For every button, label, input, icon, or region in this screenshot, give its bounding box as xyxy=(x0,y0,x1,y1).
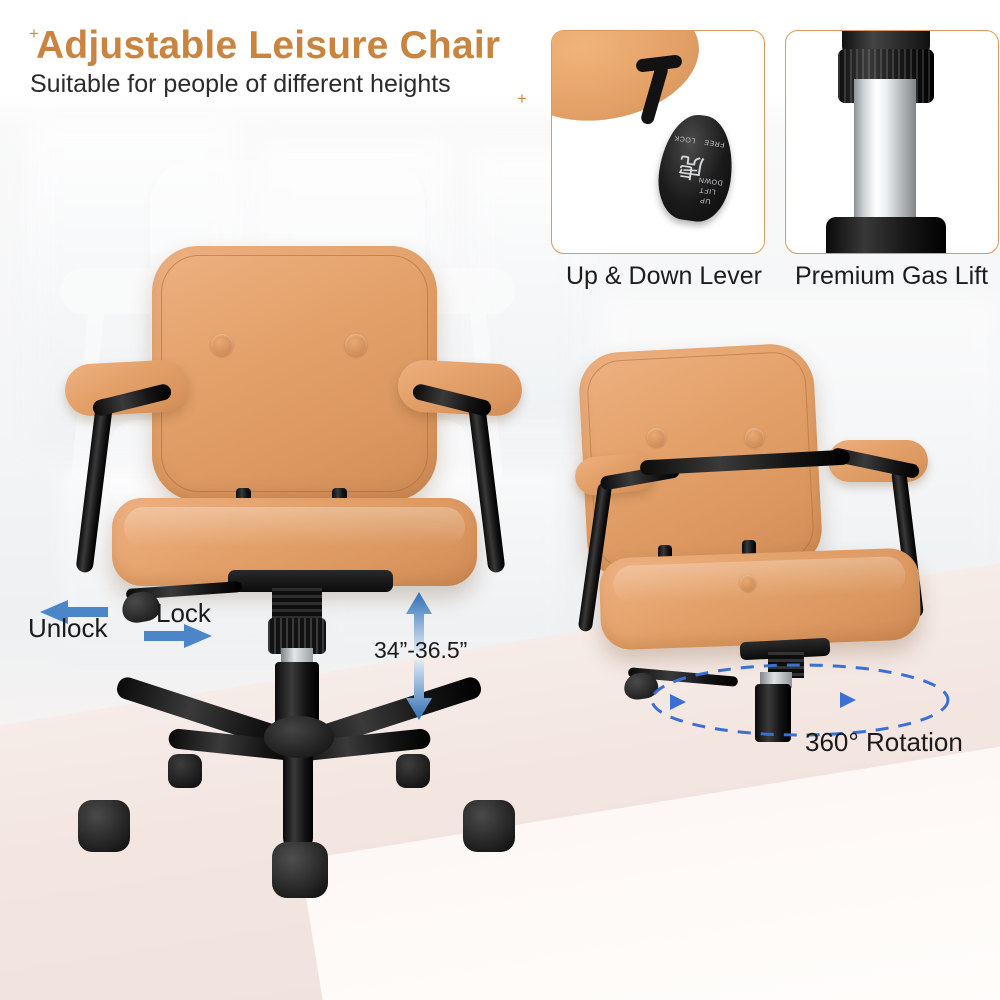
tuft-button-right xyxy=(345,334,367,356)
seat-highlight xyxy=(124,507,465,547)
right-seat-cushion xyxy=(598,547,921,650)
gas-lift-spring xyxy=(272,588,322,622)
lever-label-free: FREE xyxy=(703,138,725,148)
right-tuft-button-right xyxy=(745,428,764,447)
crop-mark-bottom-right: + xyxy=(517,90,527,107)
right-seat-tuft xyxy=(740,575,756,591)
lock-label: Lock xyxy=(156,598,211,629)
caster-2 xyxy=(463,800,515,852)
tuft-button-left xyxy=(211,334,233,356)
callout-panel-gas-lift xyxy=(785,30,999,254)
lever-paddle: 虎 LOCK FREE DOWN LIFT UP xyxy=(653,111,739,226)
arrow-head-down xyxy=(406,660,432,720)
page-title: Adjustable Leisure Chair xyxy=(36,24,500,68)
caster-5 xyxy=(396,754,430,788)
lever-label-lock: LOCK xyxy=(674,134,696,144)
rotation-path xyxy=(652,665,948,735)
gas-lift-base xyxy=(826,217,946,254)
product-infographic: + Adjustable Leisure Chair Suitable for … xyxy=(0,0,1000,1000)
backrest-piping xyxy=(161,255,428,492)
base-hub xyxy=(264,716,334,758)
right-seat-highlight xyxy=(613,556,906,604)
right-tuft-button-left xyxy=(647,428,666,447)
rotation-arrow-right xyxy=(840,692,856,708)
caster-4 xyxy=(168,754,202,788)
caster-1 xyxy=(78,800,130,852)
lever-label-up: UP xyxy=(699,196,711,204)
lever-label-lift: LIFT xyxy=(699,186,717,195)
caption-lever: Up & Down Lever xyxy=(566,262,762,291)
caster-3 xyxy=(272,842,328,898)
chair-backrest xyxy=(152,246,437,501)
page-subtitle: Suitable for people of different heights xyxy=(30,70,451,99)
callout-panel-lever: 虎 LOCK FREE DOWN LIFT UP xyxy=(551,30,765,254)
rotation-label: 360° Rotation xyxy=(805,727,963,758)
unlock-label: Unlock xyxy=(28,613,107,644)
rotation-arrow-left xyxy=(670,694,686,710)
gas-lift-chrome-cylinder xyxy=(854,79,916,227)
caption-gas-lift: Premium Gas Lift xyxy=(795,262,988,291)
height-range-label: 34”-36.5” xyxy=(374,637,467,664)
